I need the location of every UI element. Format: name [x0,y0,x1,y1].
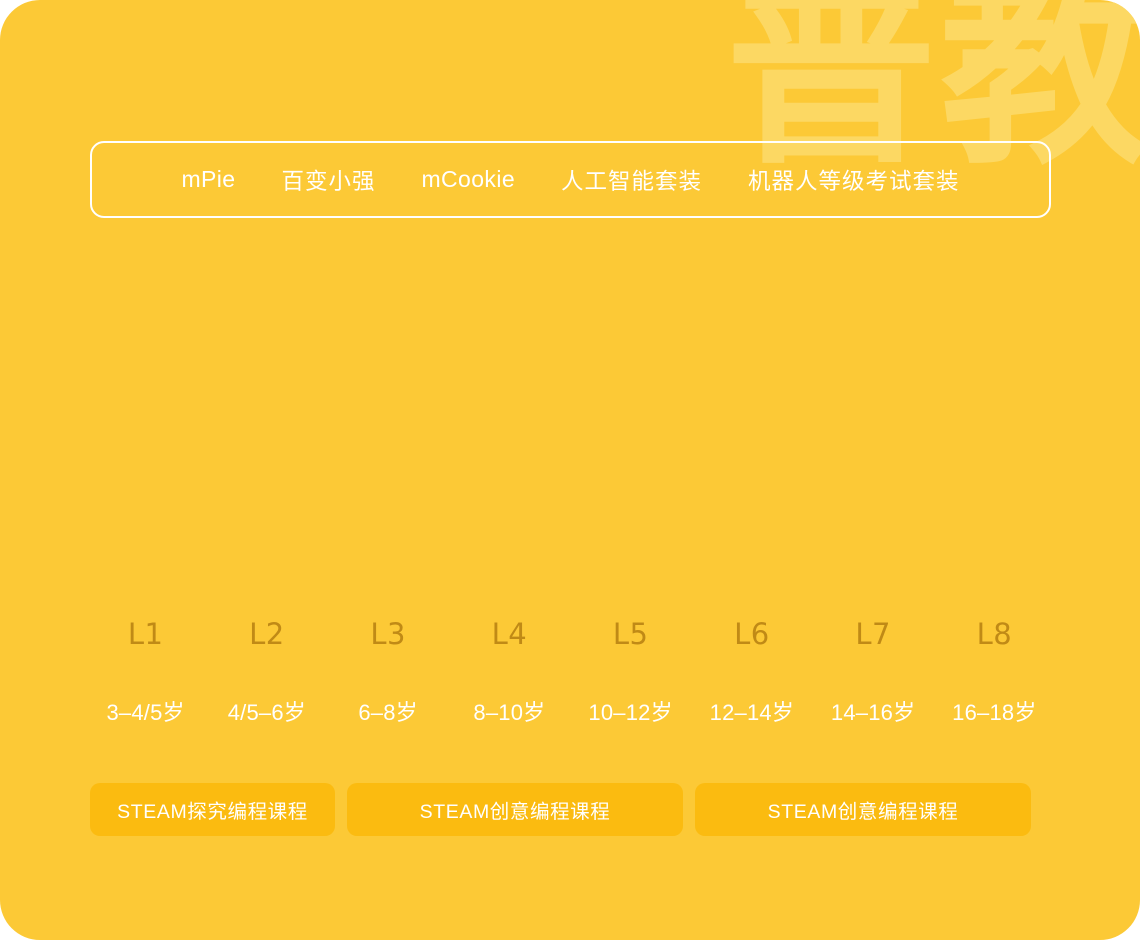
age-range-label: 8–10岁 [449,695,570,727]
age-range-label: 6–8岁 [328,695,449,727]
course-button-row: STEAM探究编程课程STEAM创意编程课程STEAM创意编程课程 [90,783,1050,836]
nav-item-3[interactable]: 人工智能套装 [538,164,725,196]
nav-item-1[interactable]: 百变小强 [258,164,398,196]
bar-level-label: L3 [328,617,449,651]
age-range-label: 14–16岁 [813,695,934,727]
course-button-1[interactable]: STEAM创意编程课程 [347,783,683,836]
nav-item-0[interactable]: mPie [158,166,258,193]
age-range-label: 12–14岁 [691,695,812,727]
bar-level-label: L7 [813,617,934,651]
level-bar-chart: L1L2L3L4L5L6L7L8 [85,280,1055,665]
course-button-0[interactable]: STEAM探究编程课程 [90,783,335,836]
age-range-label: 16–18岁 [934,695,1055,727]
bar-level-label: L2 [206,617,327,651]
bar-level-label: L1 [85,617,206,651]
bar-level-label: L8 [934,617,1055,651]
age-range-row: 3–4/5岁4/5–6岁6–8岁8–10岁10–12岁12–14岁14–16岁1… [85,695,1055,727]
nav-item-4[interactable]: 机器人等级考试套装 [725,164,983,196]
product-nav-pill: mPie百变小强mCookie人工智能套装机器人等级考试套装 [90,141,1051,218]
age-range-label: 4/5–6岁 [206,695,327,727]
bar-level-label: L6 [691,617,812,651]
course-button-2[interactable]: STEAM创意编程课程 [695,783,1031,836]
bar-level-label: L4 [449,617,570,651]
nav-item-2[interactable]: mCookie [398,166,538,193]
bar-level-label: L5 [570,617,691,651]
age-range-label: 3–4/5岁 [85,695,206,727]
age-range-label: 10–12岁 [570,695,691,727]
promo-card: 普教 mPie百变小强mCookie人工智能套装机器人等级考试套装 L1L2L3… [0,0,1140,940]
